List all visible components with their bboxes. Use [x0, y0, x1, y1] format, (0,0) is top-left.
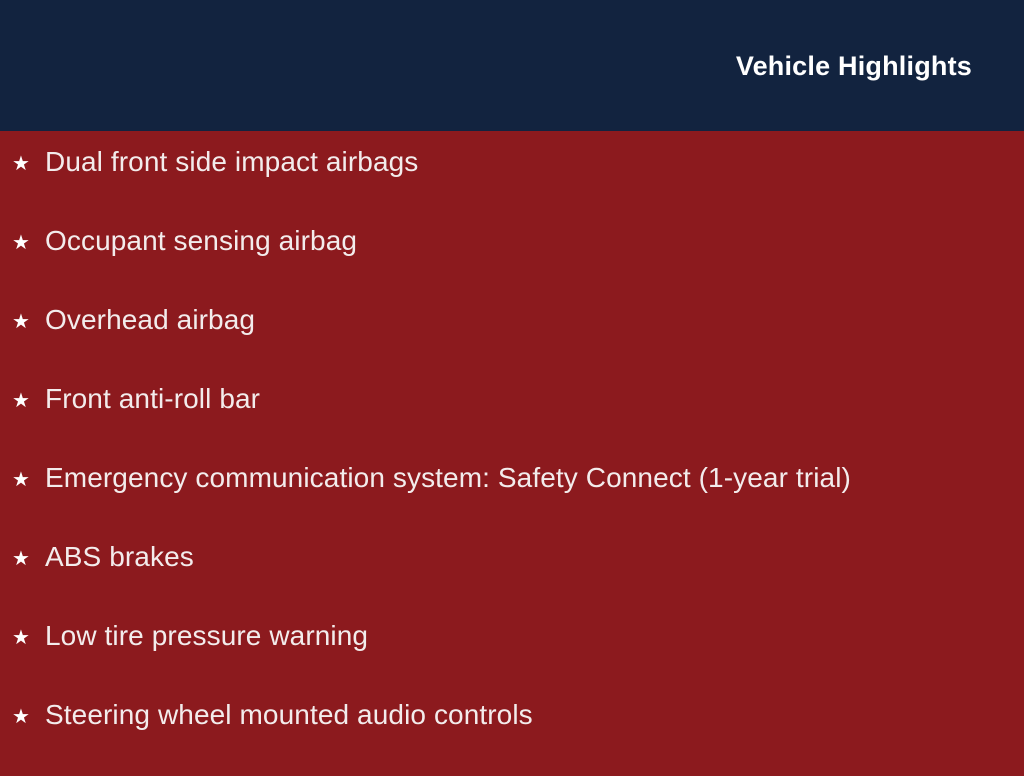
star-bullet-icon: ★ — [12, 381, 45, 411]
list-item-label: Low tire pressure warning — [45, 618, 368, 652]
list-item-label: Front anti-roll bar — [45, 381, 260, 415]
list-item: ★ Emergency communication system: Safety… — [0, 460, 1024, 539]
list-item: ★ Occupant sensing airbag — [0, 223, 1024, 302]
list-item-label: ABS brakes — [45, 539, 194, 573]
star-bullet-icon: ★ — [12, 460, 45, 490]
page-title: Vehicle Highlights — [736, 52, 972, 82]
list-item: ★ Low tire pressure warning — [0, 618, 1024, 697]
list-item: ★ Dual front side impact airbags — [0, 144, 1024, 223]
vehicle-highlights-list: ★ Dual front side impact airbags ★ Occup… — [0, 144, 1024, 776]
list-item: ★ Overhead airbag — [0, 302, 1024, 381]
star-bullet-icon: ★ — [12, 144, 45, 174]
list-item-label: Emergency communication system: Safety C… — [45, 460, 851, 494]
vehicle-highlights-slide: Vehicle Highlights ★ Dual front side imp… — [0, 0, 1024, 768]
star-bullet-icon: ★ — [12, 302, 45, 332]
list-item-label: Occupant sensing airbag — [45, 223, 357, 257]
list-item: ★ Front anti-roll bar — [0, 381, 1024, 460]
star-bullet-icon: ★ — [12, 697, 45, 727]
list-item: ★ Steering wheel mounted audio controls — [0, 697, 1024, 776]
list-item-label: Steering wheel mounted audio controls — [45, 697, 533, 731]
slide-header-band: Vehicle Highlights — [0, 0, 1024, 131]
star-bullet-icon: ★ — [12, 223, 45, 253]
star-bullet-icon: ★ — [12, 618, 45, 648]
list-item-label: Dual front side impact airbags — [45, 144, 418, 178]
slide-body: ★ Dual front side impact airbags ★ Occup… — [0, 131, 1024, 768]
list-item-label: Overhead airbag — [45, 302, 255, 336]
star-bullet-icon: ★ — [12, 539, 45, 569]
list-item: ★ ABS brakes — [0, 539, 1024, 618]
